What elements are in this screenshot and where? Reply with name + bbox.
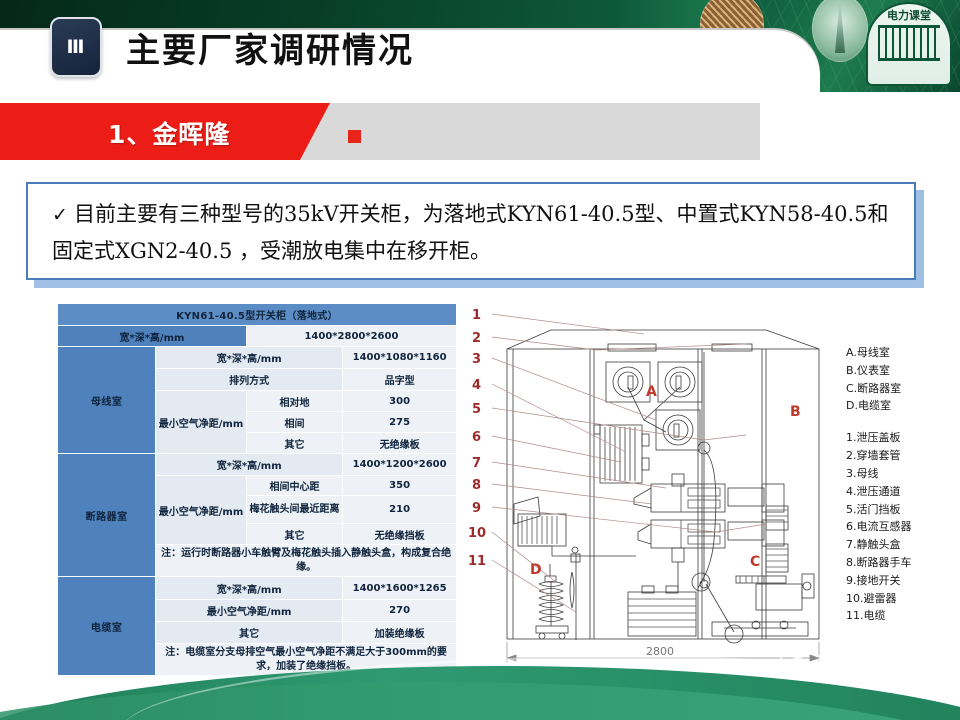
watermark-text: 101电力课堂 xyxy=(813,647,936,674)
table-title: KYN61-40.5型开关柜（落地式） xyxy=(58,304,457,326)
legend-item: 5.活门挡板 xyxy=(846,501,956,519)
cell-clearance-label: 最小空气净距/mm xyxy=(156,600,343,622)
cell-dim-value: 1400*1600*1265 xyxy=(343,577,457,600)
legend-item: 8.断路器手车 xyxy=(846,554,956,572)
cell-sub-label: 相对地 xyxy=(246,391,342,412)
table-row: 断路器室 宽*深*高/mm 1400*1200*2600 xyxy=(58,454,457,476)
page-title-row: Ⅲ 主要厂家调研情况 xyxy=(0,16,414,78)
legend-item: 2.穿墙套管 xyxy=(846,447,956,465)
switchgear-diagram-svg: 1 2 3 4 5 6 7 8 9 10 11 A B C D 280 xyxy=(466,292,846,670)
legend-item: C.断路器室 xyxy=(846,380,956,398)
brand-logo-text: 电力课堂 xyxy=(887,10,931,22)
cell-dim-label: 宽*深*高/mm xyxy=(156,347,343,369)
legend-item: 4.泄压通道 xyxy=(846,483,956,501)
cell-other-label: 其它 xyxy=(156,622,343,644)
legend-item: 9.接地开关 xyxy=(846,572,956,590)
cell-clearance-label: 最小空气净距/mm xyxy=(156,476,247,545)
legend-item: D.电缆室 xyxy=(846,397,956,415)
cell-sub-label: 梅花触头间最近距离 xyxy=(246,496,342,524)
cell-clearance-value: 270 xyxy=(343,600,457,622)
diagram-letter-c: C xyxy=(750,554,760,570)
cell-sub-value: 350 xyxy=(343,476,457,496)
spec-table: KYN61-40.5型开关柜（落地式） 宽*深*高/mm 1400*2800*2… xyxy=(57,303,457,676)
cell-other-value: 加装绝缘板 xyxy=(343,622,457,644)
spec-table-body: KYN61-40.5型开关柜（落地式） 宽*深*高/mm 1400*2800*2… xyxy=(58,304,457,676)
note-breaker: 注：运行时断路器小车触臂及梅花触头插入静触头盒，构成复合绝缘。 xyxy=(156,545,457,577)
check-icon: ✓ xyxy=(52,199,74,232)
diagram-letter-a: A xyxy=(646,384,657,400)
wechat-icon xyxy=(780,651,806,671)
section-red-band: 1、金晖隆 xyxy=(0,103,330,160)
cell-sub-label: 其它 xyxy=(246,524,342,545)
cell-dim-label: 宽*深*高/mm xyxy=(156,454,343,476)
section-label: 1、金晖隆 xyxy=(108,115,230,151)
legend-item: 10.避雷器 xyxy=(846,590,956,608)
watermark: 101电力课堂 xyxy=(780,647,936,674)
callout-content: ✓目前主要有三种型号的35kV开关柜，为落地式KYN61-40.5型、中置式KY… xyxy=(26,182,916,280)
diagram-callout-6: 6 xyxy=(472,430,481,445)
table-title-row: KYN61-40.5型开关柜（落地式） xyxy=(58,304,457,326)
legend-item: 11.电缆 xyxy=(846,607,956,625)
legend-item: B.仪表室 xyxy=(846,362,956,380)
legend-item: 3.母线 xyxy=(846,465,956,483)
cell-sub-label: 其它 xyxy=(246,433,342,454)
cell-clearance-label: 最小空气净距/mm xyxy=(156,391,247,454)
switchgear-diagram: 1 2 3 4 5 6 7 8 9 10 11 A B C D 280 xyxy=(466,292,846,670)
cell-dim-label: 宽*深*高/mm xyxy=(156,577,343,600)
diagram-callout-11: 11 xyxy=(468,554,486,569)
callout-text: 目前主要有三种型号的35kV开关柜，为落地式KYN61-40.5型、中置式KYN… xyxy=(52,202,889,263)
cell-sub-value: 300 xyxy=(343,391,457,412)
cell-sub-value: 无绝缘挡板 xyxy=(343,524,457,545)
cell-sub-value: 275 xyxy=(343,412,457,433)
table-row: 电缆室 宽*深*高/mm 1400*1600*1265 xyxy=(58,577,457,600)
diagram-callout-3: 3 xyxy=(472,352,481,367)
brand-logo: 电力课堂 xyxy=(866,2,952,86)
room-label-busbar: 母线室 xyxy=(58,347,156,454)
legend-item: 1.泄压盖板 xyxy=(846,429,956,447)
diagram-callout-5: 5 xyxy=(472,402,481,417)
diagram-callout-1: 1 xyxy=(472,308,481,323)
diagram-callout-7: 7 xyxy=(472,456,481,471)
cell-sub-value: 无绝缘板 xyxy=(343,433,457,454)
cell-sub-label: 相间中心距 xyxy=(246,476,342,496)
section-red-square-marker xyxy=(348,130,361,143)
diagram-legend: A.母线室 B.仪表室 C.断路器室 D.电缆室 1.泄压盖板 2.穿墙套管 3… xyxy=(846,344,956,625)
slide-root: 电力课堂 Ⅲ 主要厂家调研情况 1、金晖隆 ✓目前主要有三种型号的35kV开关柜… xyxy=(0,0,960,720)
callout-paragraph: ✓目前主要有三种型号的35kV开关柜，为落地式KYN61-40.5型、中置式KY… xyxy=(52,196,900,270)
cell-dim-value: 1400*1080*1160 xyxy=(343,347,457,369)
overall-value: 1400*2800*2600 xyxy=(246,326,456,347)
cell-sub-value: 210 xyxy=(343,496,457,524)
cell-dim-value: 1400*1200*2600 xyxy=(343,454,457,476)
table-row: 母线室 宽*深*高/mm 1400*1080*1160 xyxy=(58,347,457,369)
legend-item: 6.电流互感器 xyxy=(846,518,956,536)
diagram-letter-b: B xyxy=(790,404,801,420)
page-title: 主要厂家调研情况 xyxy=(126,23,414,72)
diagram-callout-4: 4 xyxy=(472,378,481,393)
diagram-callout-9: 9 xyxy=(472,501,481,516)
roman-numeral-three-icon: Ⅲ xyxy=(50,17,102,77)
table-overall-row: 宽*深*高/mm 1400*2800*2600 xyxy=(58,326,457,347)
cell-arrange-label: 排列方式 xyxy=(156,369,343,391)
overall-label: 宽*深*高/mm xyxy=(58,326,247,347)
legend-item: A.母线室 xyxy=(846,344,956,362)
diagram-letter-d: D xyxy=(530,562,542,578)
brand-logo-base xyxy=(878,25,940,61)
cell-sub-label: 相间 xyxy=(246,412,342,433)
diagram-callout-8: 8 xyxy=(472,478,481,493)
cell-arrange-value: 品字型 xyxy=(343,369,457,391)
room-label-breaker: 断路器室 xyxy=(58,454,156,577)
legend-item: 7.静触头盒 xyxy=(846,536,956,554)
diagram-callout-10: 10 xyxy=(468,526,486,541)
diagram-callout-2: 2 xyxy=(472,331,481,346)
